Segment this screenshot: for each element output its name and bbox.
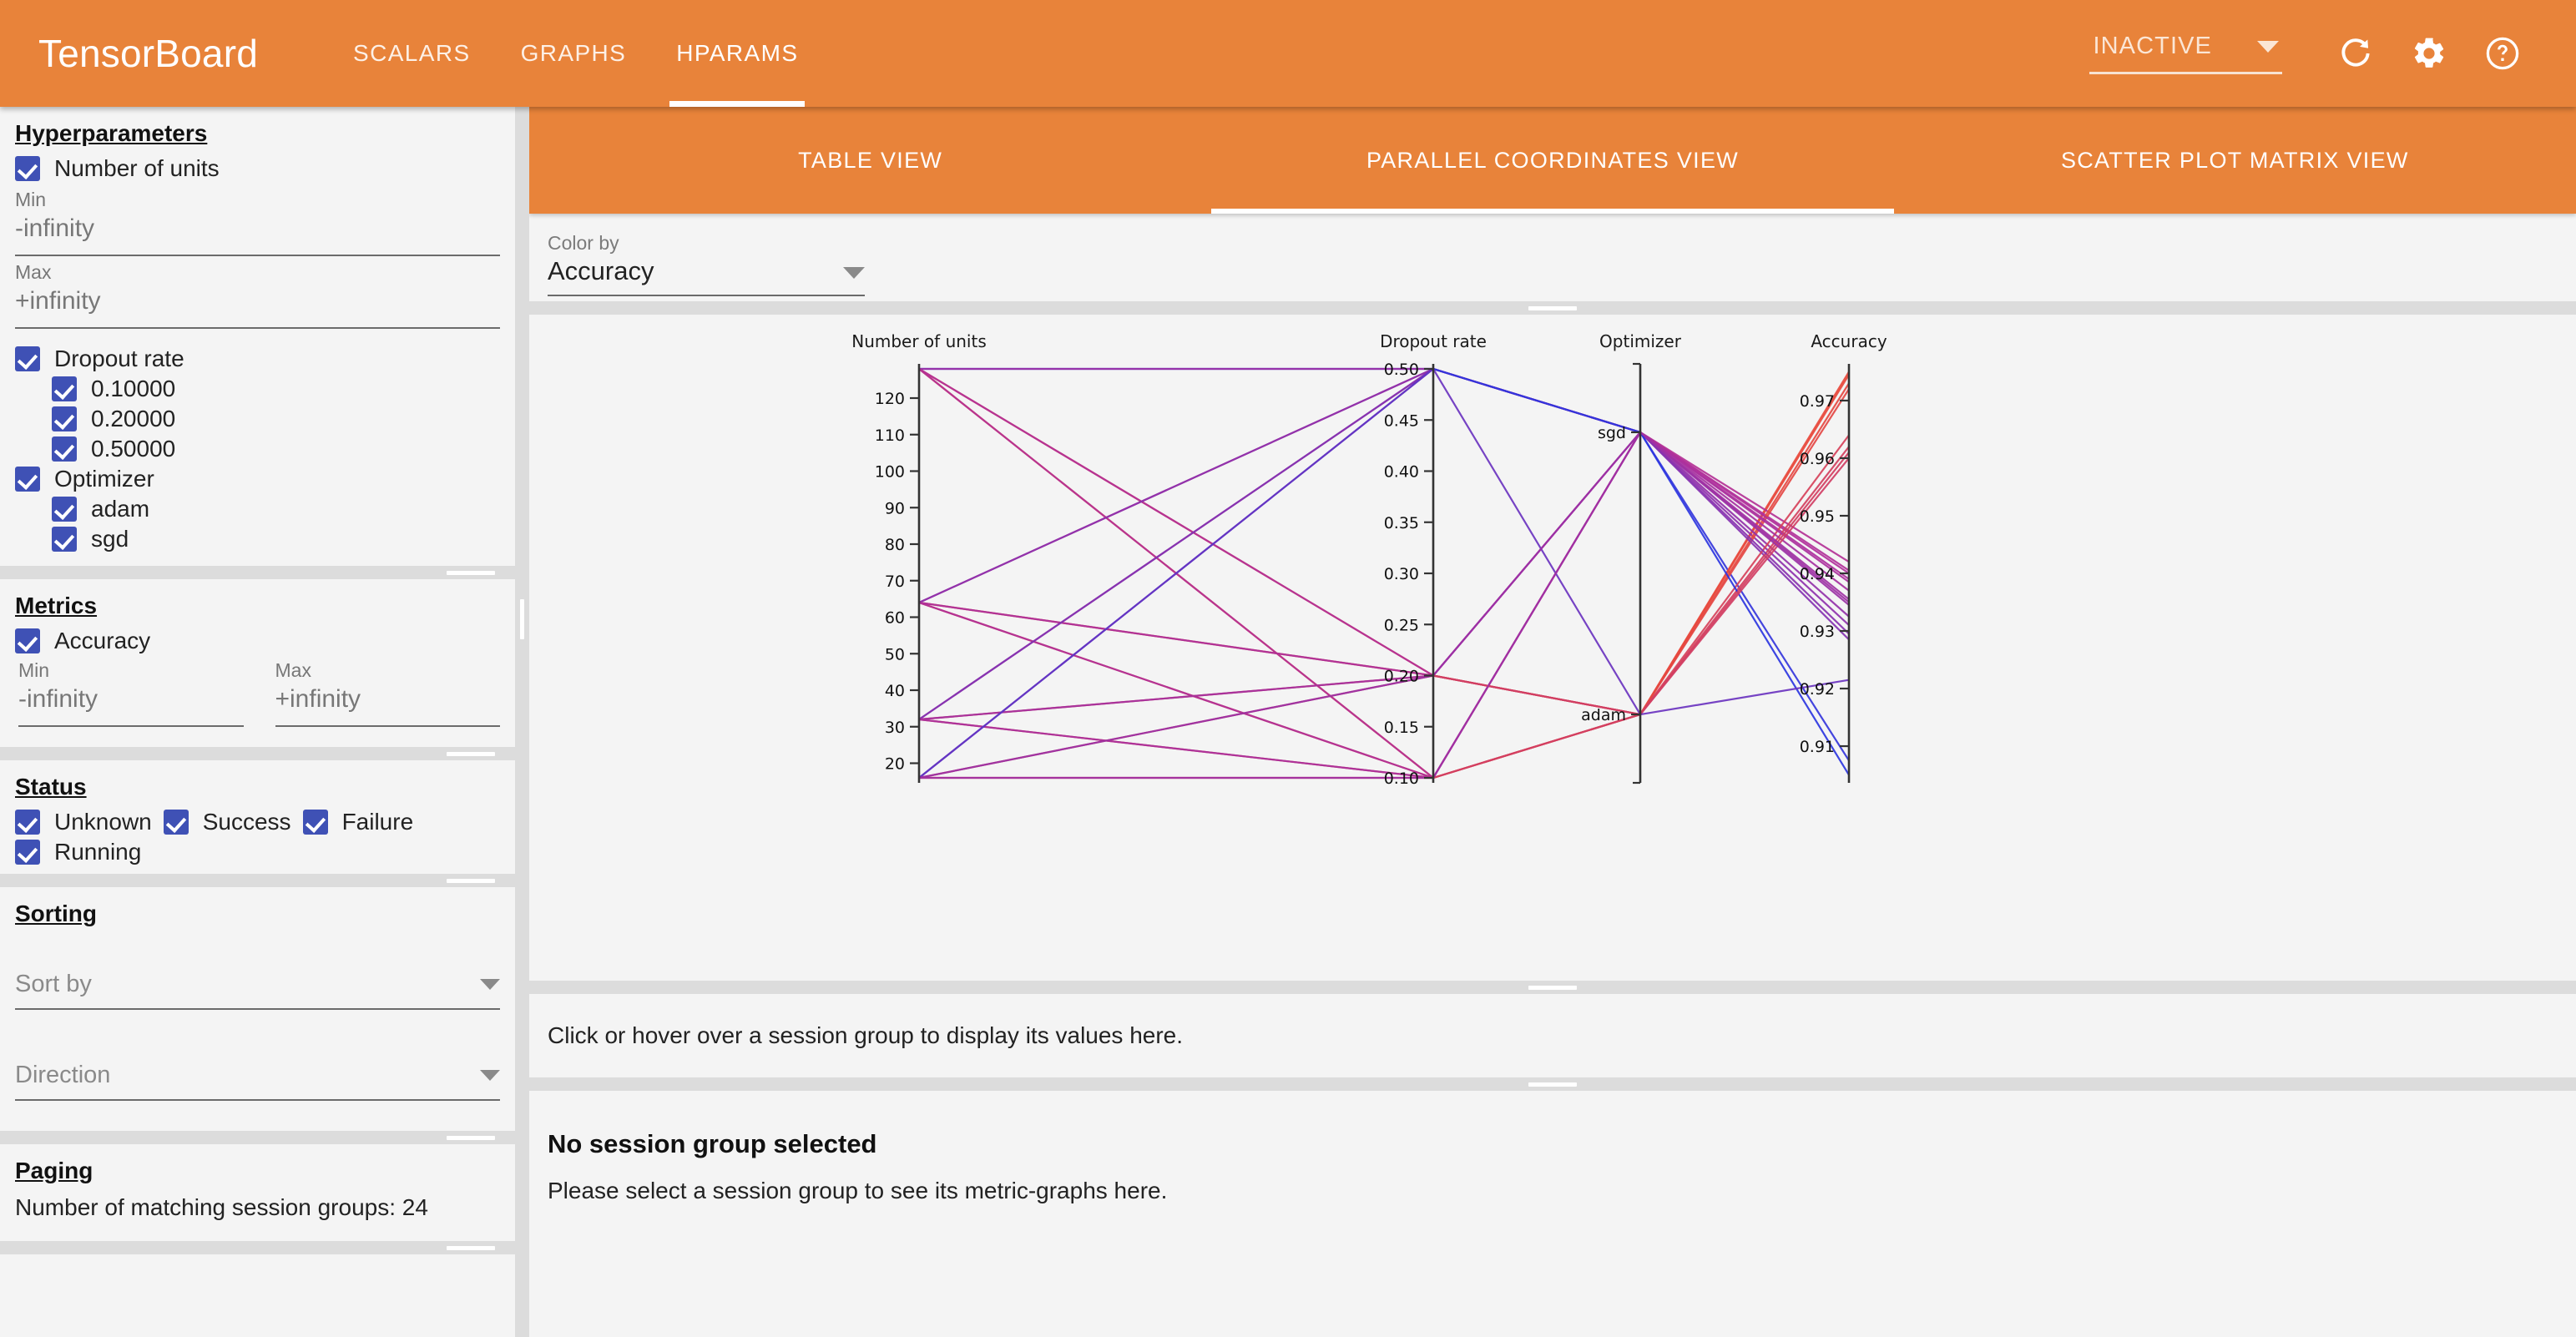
hparam-optimizer-row[interactable]: Optimizer (0, 464, 515, 494)
dropout-value-row[interactable]: 0.50000 (0, 434, 515, 464)
checkbox-optimizer-sgd[interactable] (52, 527, 77, 552)
accuracy-range-row: Min -infinity Max +infinity (0, 656, 515, 727)
pcp-tick-label: 0.25 (1384, 616, 1419, 634)
pcp-axis-title: Optimizer (1599, 331, 1682, 351)
status-label: Running (54, 839, 141, 865)
optimizer-value-label: adam (91, 496, 149, 522)
pcp-tick-label: 0.30 (1384, 565, 1419, 583)
checkbox-number-of-units[interactable] (15, 156, 40, 181)
checkbox-dropout-0.50000[interactable] (52, 436, 77, 462)
pcp-tick-label: 0.92 (1800, 680, 1835, 699)
pcp-tick-label: sgd (1598, 424, 1626, 442)
view-tab-label: PARALLEL COORDINATES VIEW (1366, 148, 1739, 174)
pcp-tick-label: 0.50 (1384, 361, 1419, 379)
pcp-tick-label: 0.20 (1384, 668, 1419, 686)
nav-tab-label: GRAPHS (521, 40, 627, 67)
hover-panel-splitter[interactable] (529, 981, 2576, 994)
checkbox-status-unknown[interactable] (15, 810, 40, 835)
sidebar-splitter[interactable] (0, 747, 515, 760)
status-unknown-row[interactable]: Unknown (15, 807, 152, 837)
pcp-tick-label: 0.10 (1384, 769, 1419, 788)
checkbox-dropout-0.10000[interactable] (52, 376, 77, 401)
checkbox-dropout-0.20000[interactable] (52, 406, 77, 431)
color-by-value: Accuracy (548, 256, 654, 286)
topbar-controls: INACTIVE (2089, 33, 2576, 74)
sidebar-splitter[interactable] (0, 874, 515, 887)
pcp-tick-label: 100 (875, 463, 905, 482)
nav-tab-scalars[interactable]: SCALARS (328, 0, 496, 107)
color-by-bar: Color by Accuracy (529, 214, 2576, 301)
checkbox-accuracy[interactable] (15, 628, 40, 653)
metric-label: Accuracy (54, 628, 150, 654)
help-icon[interactable] (2484, 35, 2521, 72)
checkbox-optimizer[interactable] (15, 467, 40, 492)
sidebar-splitter[interactable] (0, 566, 515, 579)
pcp-tick-label: 0.94 (1800, 565, 1835, 583)
optimizer-value-label: sgd (91, 526, 129, 552)
pcp-tick-label: 0.97 (1800, 392, 1835, 411)
direction-value: Direction (15, 1062, 110, 1089)
pcp-session-line[interactable] (919, 389, 1849, 714)
hparam-dropout-rate-row[interactable]: Dropout rate (0, 344, 515, 374)
status-label: Unknown (54, 809, 152, 835)
dropout-value-row[interactable]: 0.10000 (0, 374, 515, 404)
chevron-down-icon (480, 1070, 500, 1081)
units-min-field[interactable]: Min -infinity (0, 184, 515, 256)
accuracy-max-field[interactable]: Max +infinity (275, 659, 501, 727)
status-failure-row[interactable]: Failure (291, 807, 414, 837)
pcp-tick-label: 120 (875, 390, 905, 408)
pcp-tick-label: 0.15 (1384, 719, 1419, 737)
top-app-bar: TensorBoard SCALARS GRAPHS HPARAMS INACT… (0, 0, 2576, 107)
checkbox-status-success[interactable] (164, 810, 189, 835)
hparam-label: Number of units (54, 155, 220, 182)
checkbox-optimizer-adam[interactable] (52, 497, 77, 522)
pcp-tick-label: 40 (885, 682, 905, 700)
nav-tab-graphs[interactable]: GRAPHS (496, 0, 652, 107)
color-by-label: Color by (548, 232, 2576, 255)
reload-mode-select[interactable]: INACTIVE (2089, 33, 2282, 74)
accuracy-min-field[interactable]: Min -infinity (18, 659, 244, 727)
nav-tab-label: HPARAMS (676, 40, 798, 67)
pcp-tick-label: adam (1581, 706, 1626, 724)
hyperparameters-title: Hyperparameters (0, 107, 515, 154)
metrics-card: Metrics Accuracy Min -infinity Max +infi… (0, 579, 515, 747)
status-running-row[interactable]: Running (15, 837, 141, 867)
tab-parallel-coordinates-view[interactable]: PARALLEL COORDINATES VIEW (1211, 107, 1893, 214)
units-min-input[interactable]: -infinity (15, 214, 500, 256)
pcp-tick-label: 0.91 (1800, 738, 1835, 756)
pcp-tick-label: 110 (875, 426, 905, 445)
dropout-value-row[interactable]: 0.20000 (0, 404, 515, 434)
matching-session-groups-text: Number of matching session groups: 24 (0, 1191, 515, 1221)
units-max-input[interactable]: +infinity (15, 287, 500, 329)
sidebar-splitter[interactable] (0, 1241, 515, 1254)
reload-mode-value: INACTIVE (2093, 33, 2212, 60)
chevron-down-icon (2257, 41, 2279, 53)
checkbox-status-running[interactable] (15, 840, 40, 865)
sidebar-splitter[interactable] (0, 1131, 515, 1144)
status-label: Success (203, 809, 291, 835)
dropout-value-label: 0.10000 (91, 376, 175, 402)
view-tab-label: TABLE VIEW (798, 148, 942, 174)
pcp-axes: Number of units2030405060708090100110120… (851, 331, 1887, 788)
pcp-tick-label: 70 (885, 573, 905, 591)
chevron-down-icon (480, 979, 500, 990)
status-title: Status (0, 760, 515, 807)
pcp-tick-label: 20 (885, 755, 905, 774)
chevron-down-icon (843, 267, 865, 279)
pcp-tick-label: 0.40 (1384, 463, 1419, 482)
accuracy-min-input[interactable]: -infinity (18, 685, 244, 727)
metric-accuracy-row[interactable]: Accuracy (0, 626, 515, 656)
app-title: TensorBoard (38, 31, 258, 76)
view-tab-label: SCATTER PLOT MATRIX VIEW (2061, 148, 2409, 174)
tab-scatter-plot-matrix-view[interactable]: SCATTER PLOT MATRIX VIEW (1894, 107, 2576, 214)
hparam-label: Optimizer (54, 466, 154, 492)
pcp-axis-title: Dropout rate (1380, 331, 1487, 351)
units-min-label: Min (15, 189, 500, 211)
dropout-value-label: 0.20000 (91, 406, 175, 432)
checkbox-status-failure[interactable] (303, 810, 328, 835)
sort-by-select[interactable]: Sort by (15, 971, 500, 1010)
nav-tab-label: SCALARS (353, 40, 471, 67)
accuracy-min-label: Min (18, 659, 244, 682)
dropout-value-label: 0.50000 (91, 436, 175, 462)
color-by-select[interactable]: Accuracy (548, 256, 865, 296)
tensorboard-app: TensorBoard SCALARS GRAPHS HPARAMS INACT… (0, 0, 2576, 1337)
units-max-label: Max (15, 261, 500, 284)
pcp-axis-title: Number of units (851, 331, 987, 351)
direction-select[interactable]: Direction (15, 1062, 500, 1101)
optimizer-value-row[interactable]: adam (0, 494, 515, 524)
status-success-row[interactable]: Success (152, 807, 291, 837)
hover-values-panel: Click or hover over a session group to d… (529, 994, 2576, 1077)
parallel-coordinates-chart[interactable]: Number of units2030405060708090100110120… (529, 315, 2576, 981)
pcp-tick-label: 50 (885, 645, 905, 663)
pcp-tick-label: 80 (885, 536, 905, 554)
status-label: Failure (342, 809, 414, 835)
optimizer-value-row[interactable]: sgd (0, 524, 515, 554)
pcp-tick-label: 0.45 (1384, 411, 1419, 430)
pcp-tick-label: 0.35 (1384, 514, 1419, 532)
pcp-tick-label: 30 (885, 719, 905, 737)
session-group-title: No session group selected (548, 1129, 2576, 1159)
gear-icon[interactable] (2411, 35, 2447, 72)
filter-sidebar: Hyperparameters Number of units Min -inf… (0, 107, 515, 1337)
sort-by-value: Sort by (15, 971, 92, 998)
accuracy-max-input[interactable]: +infinity (275, 685, 501, 727)
pcp-axis-title: Accuracy (1811, 331, 1887, 351)
pcp-tick-label: 90 (885, 499, 905, 517)
tab-table-view[interactable]: TABLE VIEW (529, 107, 1211, 214)
hover-hint-text: Click or hover over a session group to d… (529, 1022, 1183, 1049)
hparam-number-of-units-row[interactable]: Number of units (0, 154, 515, 184)
units-max-field[interactable]: Max +infinity (0, 256, 515, 329)
pcp-tick-label: 0.96 (1800, 450, 1835, 468)
session-group-subtitle: Please select a session group to see its… (548, 1178, 2576, 1204)
paging-title: Paging (0, 1144, 515, 1191)
sorting-card: Sorting Sort by Direction (0, 887, 515, 1131)
nav-tab-hparams[interactable]: HPARAMS (651, 0, 823, 107)
sorting-title: Sorting (0, 887, 515, 934)
pcp-tick-label: 60 (885, 609, 905, 628)
metrics-title: Metrics (0, 579, 515, 626)
refresh-icon[interactable] (2337, 35, 2374, 72)
paging-card: Paging Number of matching session groups… (0, 1144, 515, 1241)
pcp-tick-label: 0.93 (1800, 623, 1835, 641)
pcp-tick-label: 0.95 (1800, 507, 1835, 526)
view-tab-bar: TABLE VIEW PARALLEL COORDINATES VIEW SCA… (529, 107, 2576, 214)
chart-top-splitter[interactable] (529, 301, 2576, 315)
session-panel-splitter[interactable] (529, 1077, 2576, 1091)
sidebar-vertical-splitter[interactable] (515, 107, 529, 1337)
checkbox-dropout-rate[interactable] (15, 346, 40, 371)
hyperparameters-card: Hyperparameters Number of units Min -inf… (0, 107, 515, 566)
status-card: Status Unknown Success Failure Running (0, 760, 515, 874)
session-group-panel: No session group selected Please select … (529, 1091, 2576, 1204)
accuracy-max-label: Max (275, 659, 501, 682)
hparam-label: Dropout rate (54, 346, 184, 372)
main-content: TABLE VIEW PARALLEL COORDINATES VIEW SCA… (529, 107, 2576, 1337)
parallel-coordinates-svg[interactable]: Number of units2030405060708090100110120… (529, 315, 2576, 981)
